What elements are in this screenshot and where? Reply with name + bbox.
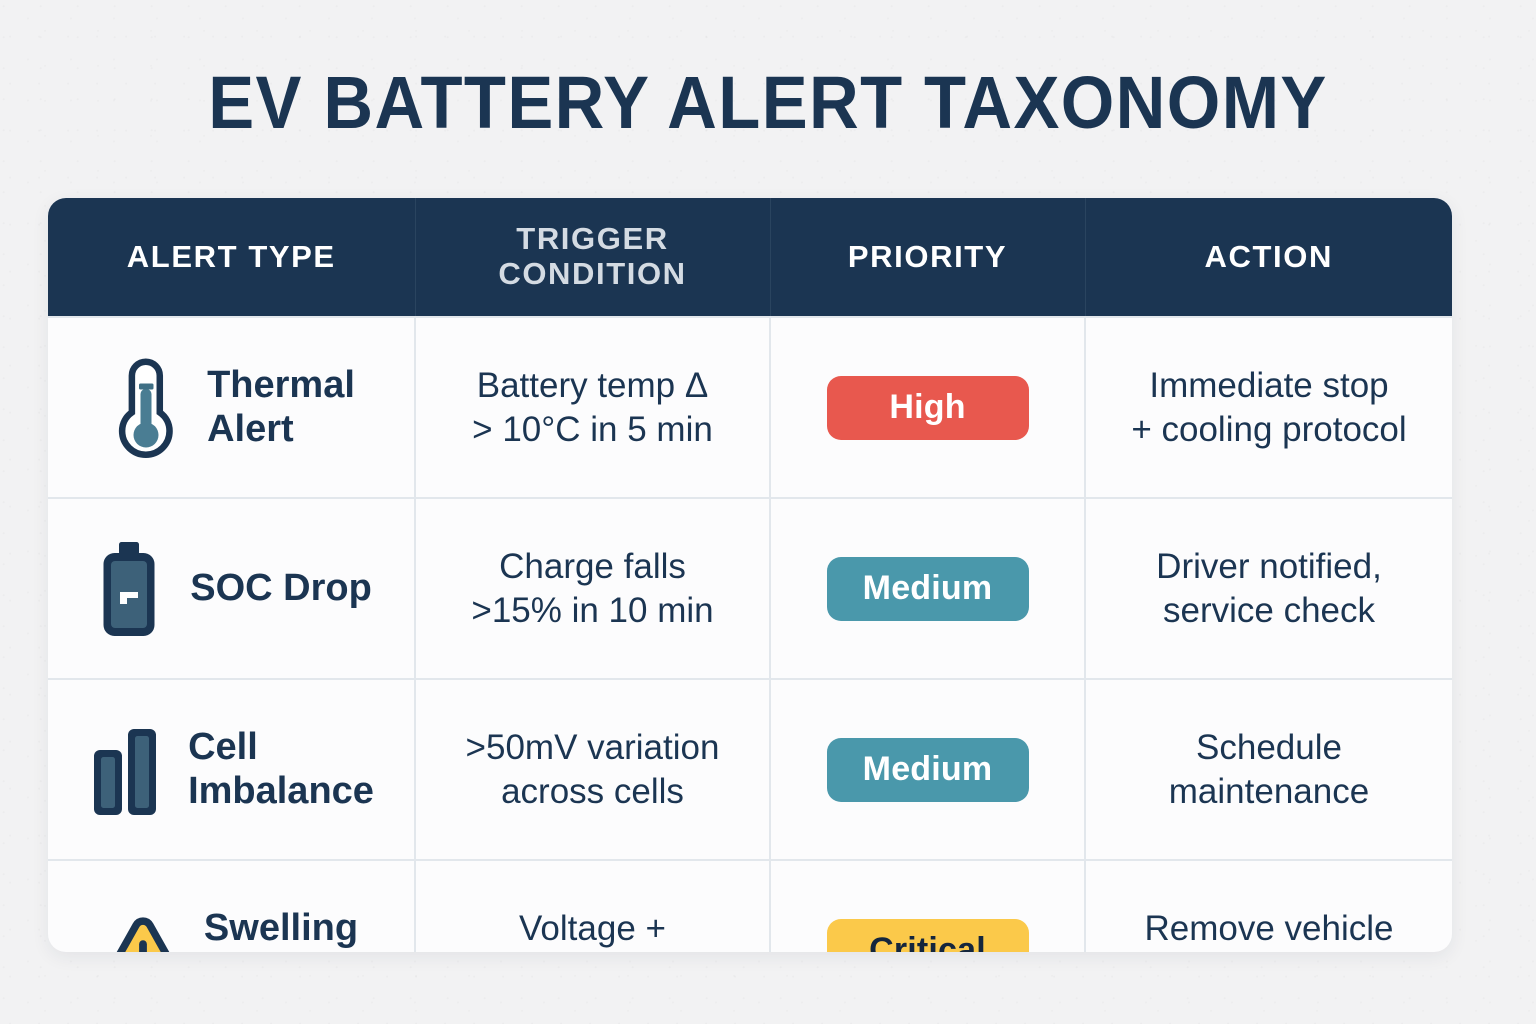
battery-icon [90, 537, 168, 641]
cell-action: Remove vehicle from service [1085, 860, 1452, 952]
action-text: Immediate stop + cooling protocol [1100, 364, 1438, 451]
cell-action: Immediate stop + cooling protocol [1085, 317, 1452, 498]
table-header: ALERT TYPE TRIGGER CONDITION PRIORITY AC… [48, 198, 1452, 317]
cell-action: Schedule maintenance [1085, 679, 1452, 860]
thermometer-icon [107, 356, 185, 460]
cell-priority: Medium [770, 498, 1085, 679]
status-badge-critical[interactable]: Critical [827, 919, 1029, 953]
table-row: Swelling Risk Voltage + pressure anomaly… [48, 860, 1452, 952]
status-badge-medium[interactable]: Medium [827, 557, 1029, 621]
cell-priority: Medium [770, 679, 1085, 860]
column-header-trigger-condition: TRIGGER CONDITION [415, 198, 770, 317]
alert-taxonomy-table: ALERT TYPE TRIGGER CONDITION PRIORITY AC… [48, 198, 1452, 952]
cell-action: Driver notified, service check [1085, 498, 1452, 679]
alert-type-label: SOC Drop [190, 567, 372, 610]
action-text: Remove vehicle from service [1100, 907, 1438, 952]
bar-chart-icon [88, 718, 166, 822]
cell-priority: High [770, 317, 1085, 498]
column-header-alert-type: ALERT TYPE [48, 198, 415, 317]
header-row: ALERT TYPE TRIGGER CONDITION PRIORITY AC… [48, 198, 1452, 317]
page-title: EV BATTERY ALERT TAXONOMY [54, 66, 1482, 140]
column-header-priority: PRIORITY [770, 198, 1085, 317]
cell-alert-type: Cell Imbalance [48, 679, 415, 860]
trigger-condition-text: Charge falls >15% in 10 min [430, 545, 755, 632]
cell-alert-type: SOC Drop [48, 498, 415, 679]
trigger-condition-text: Voltage + pressure anomaly [430, 907, 755, 952]
cell-trigger-condition: Charge falls >15% in 10 min [415, 498, 770, 679]
status-badge-high[interactable]: High [827, 376, 1029, 440]
table-row: Thermal Alert Battery temp Δ > 10°C in 5… [48, 317, 1452, 498]
alert-type-label: Thermal Alert [207, 364, 355, 451]
alert-type-label: Swelling Risk [204, 907, 358, 952]
column-header-action: ACTION [1085, 198, 1452, 317]
cell-trigger-condition: Battery temp Δ > 10°C in 5 min [415, 317, 770, 498]
cell-alert-type: Thermal Alert [48, 317, 415, 498]
taxonomy-card: ALERT TYPE TRIGGER CONDITION PRIORITY AC… [48, 198, 1452, 952]
status-badge-medium[interactable]: Medium [827, 738, 1029, 802]
cell-trigger-condition: Voltage + pressure anomaly [415, 860, 770, 952]
infographic-page: EV BATTERY ALERT TAXONOMY ALERT TYPE TRI… [0, 0, 1536, 1024]
action-text: Driver notified, service check [1100, 545, 1438, 632]
warning-triangle-icon [104, 899, 182, 953]
cell-priority: Critical [770, 860, 1085, 952]
table-row: Cell Imbalance >50mV variation across ce… [48, 679, 1452, 860]
table-body: Thermal Alert Battery temp Δ > 10°C in 5… [48, 317, 1452, 952]
cell-trigger-condition: >50mV variation across cells [415, 679, 770, 860]
trigger-condition-text: >50mV variation across cells [430, 726, 755, 813]
alert-type-label: Cell Imbalance [188, 726, 374, 813]
table-row: SOC Drop Charge falls >15% in 10 min Med… [48, 498, 1452, 679]
action-text: Schedule maintenance [1100, 726, 1438, 813]
cell-alert-type: Swelling Risk [48, 860, 415, 952]
trigger-condition-text: Battery temp Δ > 10°C in 5 min [430, 364, 755, 451]
